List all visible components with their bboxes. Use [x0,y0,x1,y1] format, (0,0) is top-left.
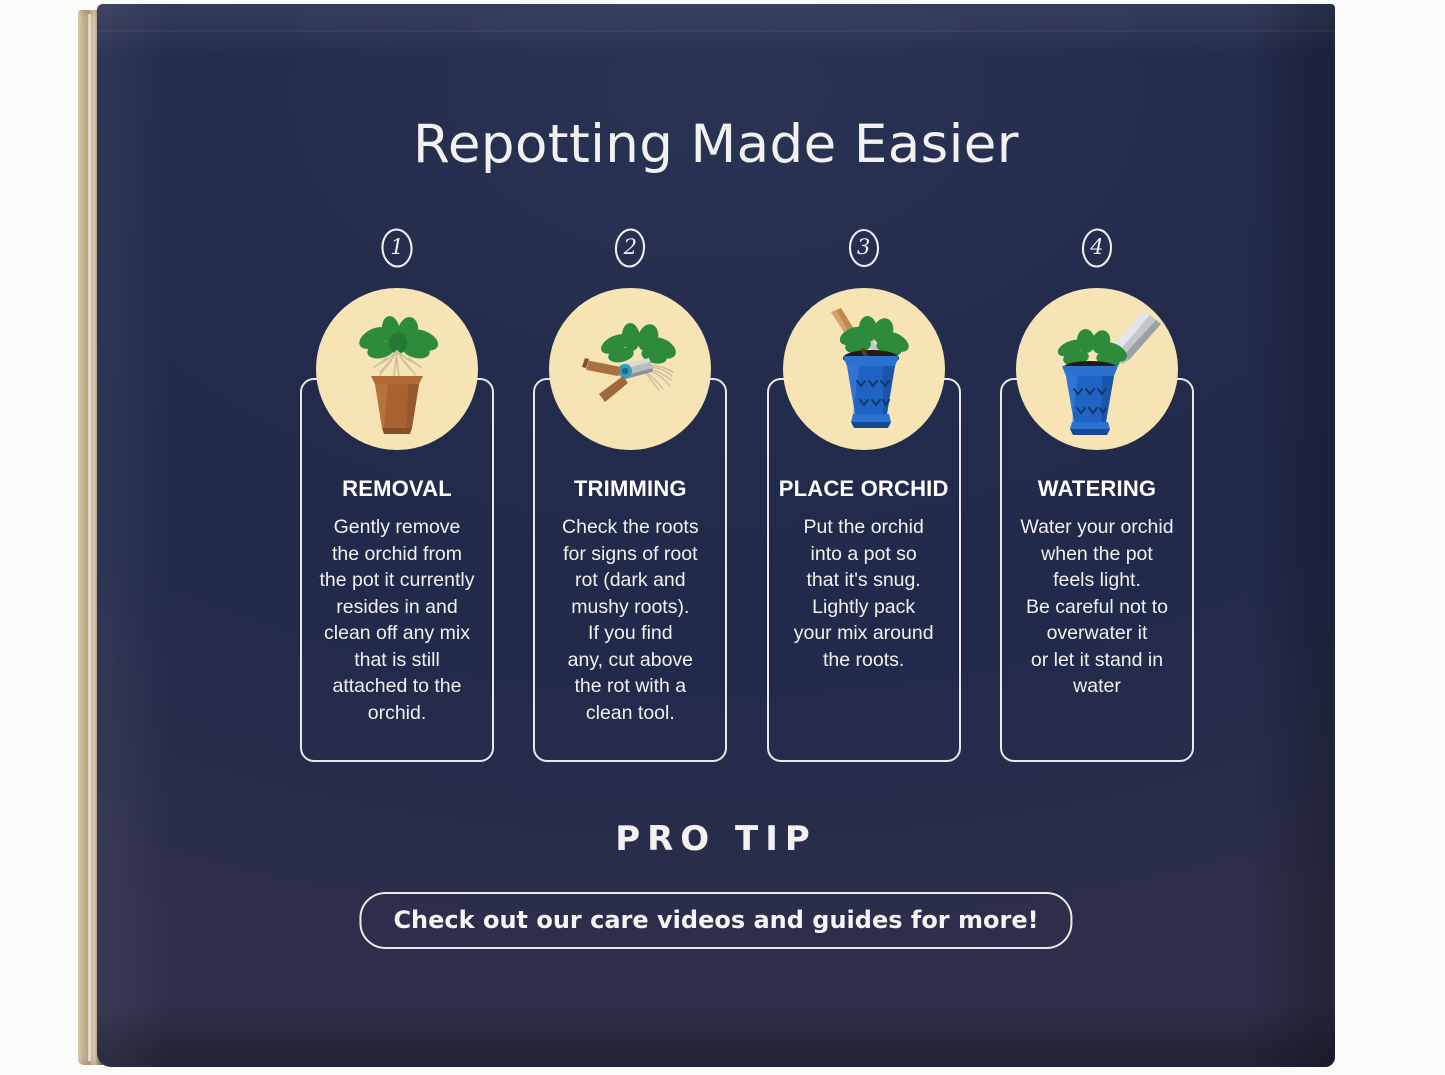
pro-tip-heading: PRO TIP [97,819,1335,859]
step-text-2: Check the roots for signs of root rot (d… [541,514,719,726]
step-title-2: TRIMMING [541,476,719,502]
watering-can-pouring-onto-orchid-in-blue-pot-icon [1016,288,1178,450]
step-illustration-3 [783,288,945,450]
page-title: Repotting Made Easier [97,114,1335,175]
step-illustration-2 [549,288,711,450]
step-text-4: Water your orchid when the pot feels lig… [1008,514,1186,700]
step-number-badge-1: 1 [379,226,415,270]
step-number-1: 1 [390,235,403,259]
step-illustration-4 [1016,288,1178,450]
box-spine-crease [88,14,91,1061]
step-number-2: 2 [624,235,637,259]
step-text-3: Put the orchid into a pot so that it's s… [775,514,953,673]
step-number-badge-2: 2 [612,226,648,270]
orchid-with-bare-roots-above-terracotta-pot-icon [316,288,478,450]
step-number-3: 3 [857,235,870,259]
step-illustration-1 [316,288,478,450]
orchid-in-blue-pot-with-trowel-icon [783,288,945,450]
step-number-badge-4: 4 [1079,226,1115,270]
step-3: 3 [764,226,964,270]
box-front-panel: Repotting Made Easier 1 [97,4,1335,1067]
pruning-shears-trimming-orchid-roots-icon [549,288,711,450]
step-2: 2 [530,226,730,270]
step-4: 4 [997,226,1197,270]
step-title-3: PLACE ORCHID [775,476,953,502]
step-title-1: REMOVAL [308,476,486,502]
step-1: 1 [297,226,497,270]
step-number-badge-3: 3 [846,226,882,270]
product-box-photo: Repotting Made Easier 1 [0,0,1445,1075]
box-lid-edge [97,30,1335,32]
step-title-4: WATERING [1008,476,1186,502]
step-number-4: 4 [1090,235,1103,259]
step-text-1: Gently remove the orchid from the pot it… [308,514,486,726]
care-videos-callout: Check out our care videos and guides for… [359,892,1072,949]
steps-row: 1 [297,226,1197,270]
